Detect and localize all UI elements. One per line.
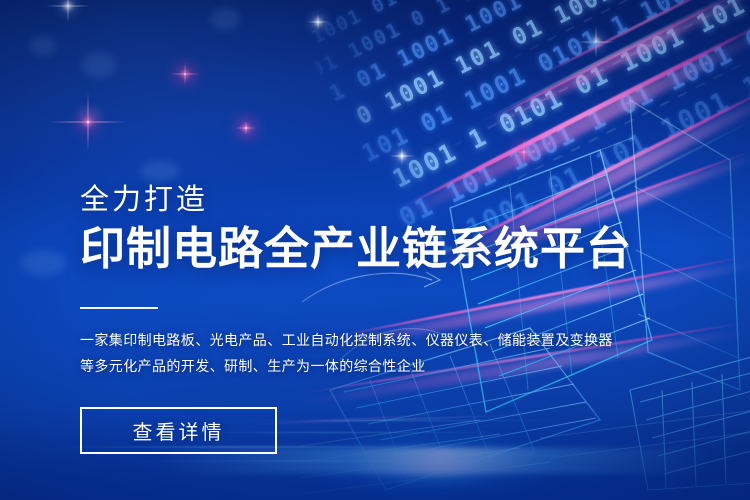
hero-banner: 1001 01 1001 101 1001 10 0101 01 1001 0 … [0, 0, 750, 500]
hero-content: 全力打造 印制电路全产业链系统平台 一家集印制电路板、光电产品、工业自动化控制系… [80, 186, 600, 454]
hero-divider [80, 307, 158, 309]
view-details-button[interactable]: 查看详情 [80, 407, 277, 454]
hero-eyebrow: 全力打造 [80, 186, 600, 215]
hero-headline: 印制电路全产业链系统平台 [80, 225, 600, 273]
hero-description-line-1: 一家集印制电路板、光电产品、工业自动化控制系统、仪器仪表、储能装置及变换器 [80, 327, 600, 353]
hero-description-line-2: 等多元化产品的开发、研制、生产为一体的综合性企业 [80, 353, 600, 379]
hero-description: 一家集印制电路板、光电产品、工业自动化控制系统、仪器仪表、储能装置及变换器 等多… [80, 327, 600, 379]
